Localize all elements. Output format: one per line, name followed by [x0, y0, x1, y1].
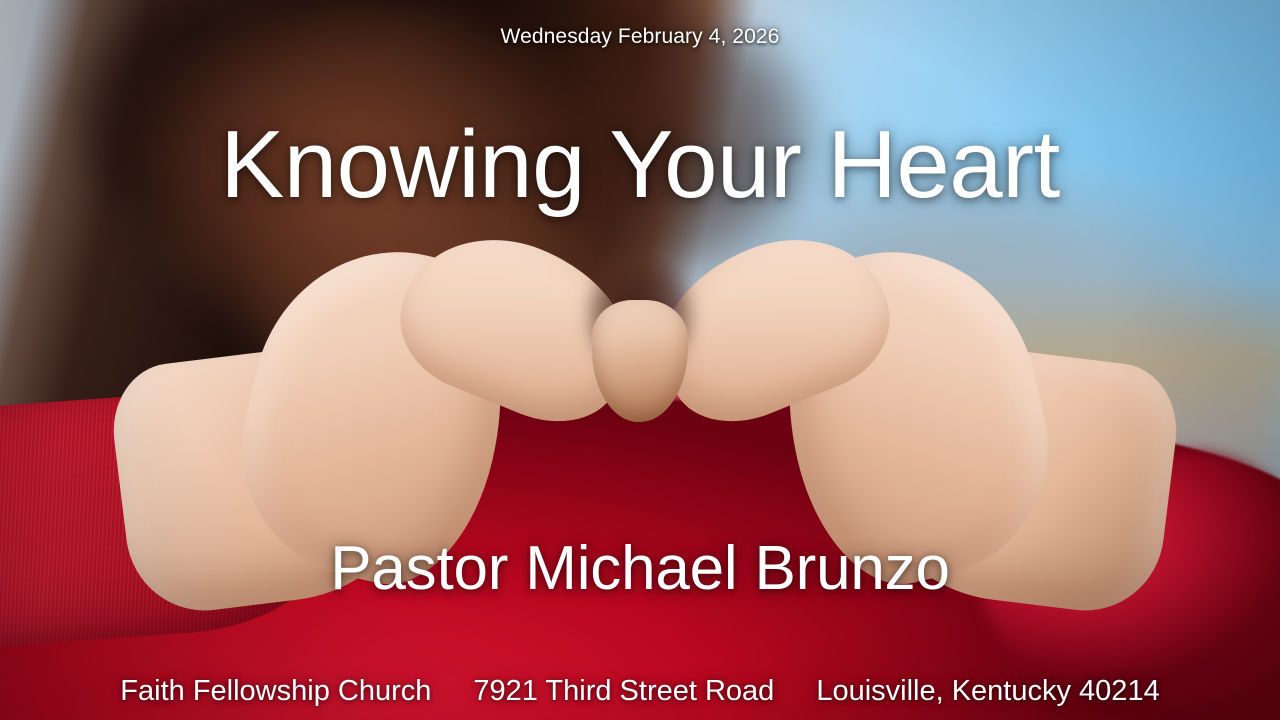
church-name: Faith Fellowship Church [120, 675, 431, 707]
sermon-title: Knowing Your Heart [0, 117, 1280, 213]
speaker-name: Pastor Michael Brunzo [0, 538, 1280, 600]
church-footer: Faith Fellowship Church7921 Third Street… [0, 677, 1280, 706]
slide-text-layer: Wednesday February 4, 2026 Knowing Your … [0, 0, 1280, 720]
church-street-address: 7921 Third Street Road [473, 675, 774, 707]
church-city-state-zip: Louisville, Kentucky 40214 [816, 675, 1159, 707]
service-date: Wednesday February 4, 2026 [0, 26, 1280, 47]
sermon-title-slide: Wednesday February 4, 2026 Knowing Your … [0, 0, 1280, 720]
